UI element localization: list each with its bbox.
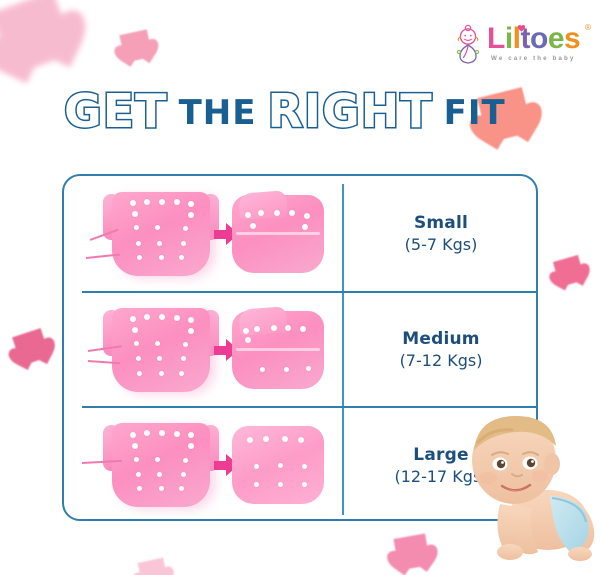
- size-name: Medium: [402, 329, 479, 349]
- diaper-illustration-cell-medium: [64, 292, 342, 408]
- heart-mid-right: [556, 258, 582, 284]
- diaper-illustration-cell-small: [64, 176, 342, 292]
- diaper-open-icon: [112, 308, 210, 392]
- table-row[interactable]: Medium (7-12 Kgs): [64, 292, 536, 408]
- wordmark-letter-L-0: L: [487, 22, 505, 56]
- size-label-cell-small: Small (5-7 Kgs): [344, 176, 538, 292]
- size-label-cell-medium: Medium (7-12 Kgs): [344, 292, 538, 408]
- brand-logo[interactable]: Liltoes ® We care the baby: [445, 22, 595, 70]
- diaper-open-icon: [112, 192, 210, 276]
- heart-top-left: [0, 0, 66, 66]
- size-weight: (5-7 Kgs): [405, 235, 478, 254]
- diaper-illustration-cell-large: [64, 407, 342, 523]
- heart-bottom-center: [396, 536, 428, 568]
- diaper-open-icon: [112, 423, 210, 507]
- diaper-folded-icon: [232, 195, 324, 273]
- heart-mid-left: [16, 332, 46, 362]
- title-word-right: RIGHT: [267, 84, 432, 138]
- page-title: GETTHERIGHTFIT: [64, 84, 484, 140]
- poster-canvas: Liltoes ® We care the baby GETTHERIGHTFI…: [0, 0, 600, 575]
- brand-tagline: We care the baby: [491, 55, 575, 62]
- title-word-get: GET: [64, 84, 168, 138]
- heart-top-center: [122, 32, 150, 60]
- crawling-baby-photo: [452, 408, 600, 568]
- heart-bottom-left: [140, 560, 166, 575]
- diaper-folded-icon: [232, 426, 324, 504]
- diaper-folded-icon: [232, 311, 324, 389]
- size-name: Small: [414, 213, 468, 233]
- wordmark-letter-e-5: e: [548, 22, 564, 56]
- size-weight: (7-12 Kgs): [400, 351, 483, 370]
- wordmark-letter-o-4: o: [530, 22, 548, 56]
- title-word-the: THE: [179, 93, 257, 133]
- brand-wordmark: Liltoes: [487, 22, 580, 56]
- wordmark-letter-i-1: i: [505, 22, 513, 56]
- heart-icon: [517, 24, 526, 32]
- title-word-fit: FIT: [444, 93, 506, 133]
- baby-logo-icon: [451, 24, 485, 64]
- wordmark-letter-s-6: s: [564, 22, 580, 56]
- registered-mark: ®: [585, 23, 591, 32]
- table-row[interactable]: Small (5-7 Kgs): [64, 176, 536, 292]
